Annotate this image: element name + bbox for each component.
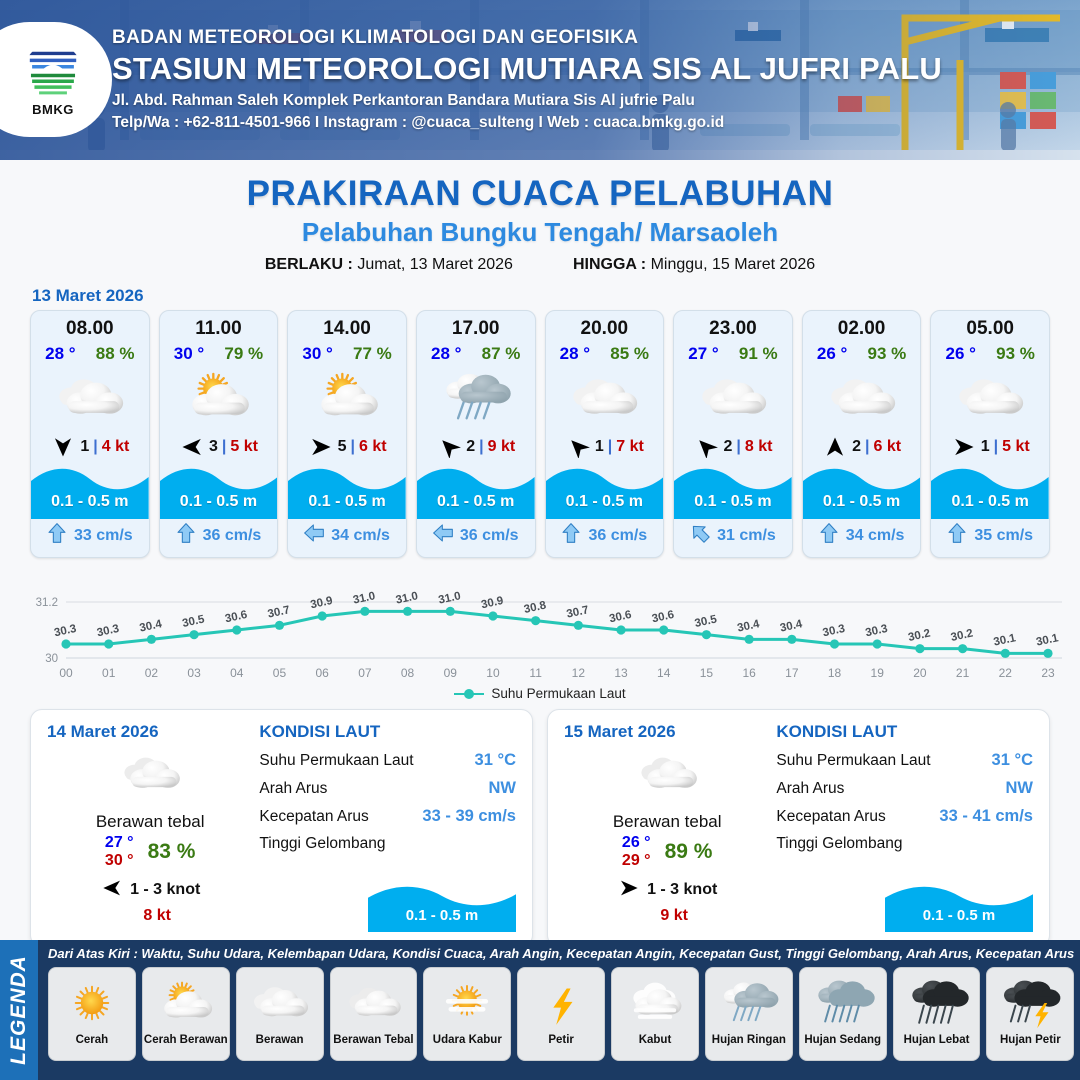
legend-item: Hujan Sedang xyxy=(799,967,887,1061)
hourly-card: 20.0028 °85 %1|7 kt0.1 - 0.5 m36 cm/s xyxy=(545,310,665,558)
weather-berawan-tebal-icon xyxy=(47,746,253,802)
weather-petir-icon xyxy=(528,972,594,1034)
page-title: PRAKIRAAN CUACA PELABUHAN xyxy=(0,174,1080,214)
card-wind: 1|4 kt xyxy=(31,435,149,459)
legend-side-bar: LEGENDA xyxy=(0,940,38,1080)
daily-date: 15 Maret 2026 xyxy=(564,722,770,742)
legend-item: Kabut xyxy=(611,967,699,1061)
card-current-speed: 36 cm/s xyxy=(460,527,519,545)
wind-direction-arrow-icon xyxy=(436,436,462,458)
card-wind-speed: 9 kt xyxy=(488,438,516,456)
svg-text:18: 18 xyxy=(828,666,842,680)
svg-text:30.9: 30.9 xyxy=(480,595,504,611)
sea-row-label: Suhu Permukaan Laut xyxy=(776,752,930,770)
svg-text:11: 11 xyxy=(529,666,542,680)
card-wind: 2|6 kt xyxy=(803,435,921,459)
svg-text:03: 03 xyxy=(187,666,201,680)
card-wind-speed: 5 kt xyxy=(1002,438,1030,456)
card-wind: 1|7 kt xyxy=(546,435,664,459)
daily-left: 14 Maret 2026Berawan tebal27 °30 °83 %1 … xyxy=(47,722,253,934)
current-direction-arrow-icon xyxy=(690,522,710,549)
hourly-card: 14.0030 °77 %5|6 kt0.1 - 0.5 m34 cm/s xyxy=(287,310,407,558)
legend-item-label: Hujan Ringan xyxy=(712,1034,786,1046)
svg-text:08: 08 xyxy=(401,666,415,680)
daily-temps: 27 °30 °83 % xyxy=(47,834,253,870)
wind-direction-arrow-icon xyxy=(308,436,334,458)
legend-item-label: Berawan Tebal xyxy=(333,1034,413,1046)
legend-body: Dari Atas Kiri : Waktu, Suhu Udara, Kele… xyxy=(38,940,1080,1080)
card-separator: | xyxy=(994,438,998,456)
card-wind-speed: 6 kt xyxy=(873,438,901,456)
weather-berawan-icon xyxy=(674,367,792,429)
card-wave-height: 0.1 - 0.5 m xyxy=(31,493,149,511)
daily-condition: Berawan tebal xyxy=(564,812,770,832)
daily-left: 15 Maret 2026Berawan tebal26 °29 °89 %1 … xyxy=(564,722,770,934)
page-subtitle: Pelabuhan Bungku Tengah/ Marsaoleh xyxy=(0,217,1080,248)
legend-item-label: Hujan Lebat xyxy=(904,1034,970,1046)
card-current-speed: 36 cm/s xyxy=(203,527,262,545)
legend-item-list: CerahCerah BerawanBerawanBerawan TebalUd… xyxy=(48,967,1074,1061)
svg-text:22: 22 xyxy=(999,666,1013,680)
sea-row-label: Kecepatan Arus xyxy=(776,808,885,826)
sea-condition-row: Arah ArusNW xyxy=(259,779,516,798)
wind-direction-arrow-icon xyxy=(617,878,641,903)
hourly-card: 23.0027 °91 %2|8 kt0.1 - 0.5 m31 cm/s xyxy=(673,310,793,558)
card-wave-height: 0.1 - 0.5 m xyxy=(546,493,664,511)
chart-legend-label: Suhu Permukaan Laut xyxy=(491,686,625,701)
wind-direction-arrow-icon xyxy=(693,436,719,458)
card-wind: 5|6 kt xyxy=(288,435,406,459)
card-time: 11.00 xyxy=(160,318,278,340)
sea-row-label: Suhu Permukaan Laut xyxy=(259,752,413,770)
svg-text:19: 19 xyxy=(871,666,885,680)
card-current-speed: 36 cm/s xyxy=(588,527,647,545)
daily-gust: 9 kt xyxy=(578,907,770,925)
card-wave-height: 0.1 - 0.5 m xyxy=(931,493,1049,511)
sst-chart: 31.23030.30030.30130.40230.50330.60430.7… xyxy=(18,572,1062,684)
weather-hujan-petir-icon xyxy=(997,972,1063,1034)
sea-row-value: 33 - 41 cm/s xyxy=(939,807,1033,826)
card-values: 30 °79 % xyxy=(160,344,278,364)
valid-from-label: BERLAKU : xyxy=(265,256,353,273)
svg-text:30.5: 30.5 xyxy=(694,613,719,630)
card-current: 31 cm/s xyxy=(674,522,792,549)
svg-text:21: 21 xyxy=(956,666,970,680)
card-time: 05.00 xyxy=(931,318,1049,340)
daily-date: 14 Maret 2026 xyxy=(47,722,253,742)
card-values: 27 °91 % xyxy=(674,344,792,364)
daily-right: KONDISI LAUTSuhu Permukaan Laut31 °CArah… xyxy=(770,722,1033,934)
card-humidity: 79 % xyxy=(224,344,263,364)
current-direction-arrow-icon xyxy=(433,522,453,549)
weather-kabut-icon xyxy=(622,972,688,1034)
sea-row-value-group: NW xyxy=(1003,779,1033,798)
hourly-card: 17.0028 °87 %2|9 kt0.1 - 0.5 m36 cm/s xyxy=(416,310,536,558)
weather-hujan-ringan-icon xyxy=(417,367,535,429)
svg-text:30.6: 30.6 xyxy=(608,609,632,625)
daily-humidity: 83 % xyxy=(148,840,196,864)
legend-item: Hujan Petir xyxy=(986,967,1074,1061)
valid-to-label: HINGGA : xyxy=(573,256,646,273)
svg-text:06: 06 xyxy=(315,666,329,680)
weather-berawan-icon xyxy=(31,367,149,429)
validity-dates: BERLAKU : Jumat, 13 Maret 2026 HINGGA : … xyxy=(0,256,1080,274)
daily-wind-range: 1 - 3 knot xyxy=(647,881,717,899)
current-direction-arrow-icon xyxy=(947,522,967,549)
daily-condition: Berawan tebal xyxy=(47,812,253,832)
card-wave-height: 0.1 - 0.5 m xyxy=(288,493,406,511)
legend-item-label: Cerah Berawan xyxy=(144,1034,228,1046)
svg-text:31.2: 31.2 xyxy=(36,597,58,609)
sea-condition-row: Tinggi Gelombang xyxy=(776,835,1033,853)
legend-strip: LEGENDA Dari Atas Kiri : Waktu, Suhu Uda… xyxy=(0,940,1080,1080)
daily-temp-max: 30 ° xyxy=(105,852,134,870)
card-temperature: 27 ° xyxy=(688,344,718,364)
card-values: 30 °77 % xyxy=(288,344,406,364)
card-current-speed: 33 cm/s xyxy=(74,527,133,545)
current-direction-arrow-icon xyxy=(304,522,324,549)
sea-row-label: Kecepatan Arus xyxy=(259,808,368,826)
sea-condition-row: Arah ArusNW xyxy=(776,779,1033,798)
svg-text:09: 09 xyxy=(444,666,458,680)
card-humidity: 93 % xyxy=(996,344,1035,364)
legend-item: Berawan Tebal xyxy=(330,967,418,1061)
svg-text:30.6: 30.6 xyxy=(224,609,248,625)
wind-direction-arrow-icon xyxy=(100,878,124,903)
card-values: 28 °85 % xyxy=(546,344,664,364)
card-wind-direction: 2 xyxy=(466,438,475,456)
valid-to-value: Minggu, 15 Maret 2026 xyxy=(651,256,816,273)
svg-text:30.7: 30.7 xyxy=(566,604,590,620)
legend-side-title: LEGENDA xyxy=(7,955,31,1065)
card-wind-direction: 1 xyxy=(595,438,604,456)
weather-berawan-icon xyxy=(546,367,664,429)
card-wave-height: 0.1 - 0.5 m xyxy=(160,493,278,511)
card-separator: | xyxy=(479,438,483,456)
daily-wind-range: 1 - 3 knot xyxy=(130,881,200,899)
weather-berawan-icon xyxy=(803,367,921,429)
sea-row-value: 33 - 39 cm/s xyxy=(422,807,516,826)
current-direction-arrow-icon xyxy=(819,522,839,549)
sea-row-value-group: 33 - 41 cm/s xyxy=(939,807,1033,826)
weather-hujan-ringan-icon xyxy=(716,972,782,1034)
legend-item: Berawan xyxy=(236,967,324,1061)
valid-from: BERLAKU : Jumat, 13 Maret 2026 xyxy=(265,256,513,274)
valid-to: HINGGA : Minggu, 15 Maret 2026 xyxy=(573,256,815,274)
weather-berawan-tebal-icon xyxy=(564,746,770,802)
weather-hujan-sedang-icon xyxy=(810,972,876,1034)
chart-legend-marker-icon xyxy=(454,689,484,699)
hourly-day-label: 13 Maret 2026 xyxy=(32,286,1080,306)
weather-udara-kabur-icon xyxy=(434,972,500,1034)
daily-temp-range: 27 °30 ° xyxy=(105,834,134,870)
svg-text:30.2: 30.2 xyxy=(907,628,931,644)
card-temperature: 26 ° xyxy=(945,344,975,364)
card-time: 23.00 xyxy=(674,318,792,340)
daily-temp-max: 29 ° xyxy=(622,852,651,870)
card-wind-speed: 7 kt xyxy=(616,438,644,456)
legend-item-label: Udara Kabur xyxy=(433,1034,502,1046)
card-wind-speed: 8 kt xyxy=(745,438,773,456)
card-separator: | xyxy=(865,438,869,456)
daily-humidity: 89 % xyxy=(665,840,713,864)
card-temperature: 26 ° xyxy=(817,344,847,364)
weather-berawan-tebal-icon xyxy=(340,972,406,1034)
svg-text:31.0: 31.0 xyxy=(395,590,419,606)
wind-direction-arrow-icon xyxy=(822,436,848,458)
legend-item-label: Hujan Sedang xyxy=(804,1034,881,1046)
card-current-speed: 31 cm/s xyxy=(717,527,776,545)
chart-legend: Suhu Permukaan Laut xyxy=(0,686,1080,701)
legend-item-label: Berawan xyxy=(256,1034,304,1046)
legend-item: Cerah Berawan xyxy=(142,967,230,1061)
card-wind-direction: 2 xyxy=(723,438,732,456)
card-separator: | xyxy=(93,438,97,456)
svg-text:20: 20 xyxy=(913,666,927,680)
sea-row-value: 31 °C xyxy=(992,751,1033,770)
svg-text:30.6: 30.6 xyxy=(651,609,675,625)
weather-cerah-berawan-icon xyxy=(288,367,406,429)
card-wind-speed: 4 kt xyxy=(102,438,130,456)
daily-gust: 8 kt xyxy=(61,907,253,925)
svg-text:30.9: 30.9 xyxy=(309,595,333,611)
header-text-block: BADAN METEOROLOGI KLIMATOLOGI DAN GEOFIS… xyxy=(112,27,942,132)
card-current: 34 cm/s xyxy=(803,522,921,549)
sea-row-label: Tinggi Gelombang xyxy=(776,835,902,853)
card-temperature: 28 ° xyxy=(45,344,75,364)
card-values: 28 °88 % xyxy=(31,344,149,364)
valid-from-value: Jumat, 13 Maret 2026 xyxy=(357,256,513,273)
wind-direction-arrow-icon xyxy=(50,436,76,458)
wind-direction-arrow-icon xyxy=(565,436,591,458)
svg-text:30.4: 30.4 xyxy=(139,618,164,635)
svg-text:17: 17 xyxy=(785,666,799,680)
legend-item-label: Petir xyxy=(548,1034,574,1046)
card-humidity: 88 % xyxy=(96,344,135,364)
svg-text:13: 13 xyxy=(614,666,628,680)
card-values: 26 °93 % xyxy=(931,344,1049,364)
bmkg-logo-icon xyxy=(24,43,82,101)
card-wind: 2|9 kt xyxy=(417,435,535,459)
sea-row-value: NW xyxy=(488,779,516,798)
legend-item: Hujan Lebat xyxy=(893,967,981,1061)
card-wind-direction: 1 xyxy=(981,438,990,456)
sea-row-value: 31 °C xyxy=(475,751,516,770)
svg-text:30.1: 30.1 xyxy=(1035,632,1060,649)
svg-text:04: 04 xyxy=(230,666,244,680)
svg-text:30.4: 30.4 xyxy=(736,618,761,635)
svg-text:30.3: 30.3 xyxy=(53,623,77,639)
weather-berawan-icon xyxy=(247,972,313,1034)
station-address: Jl. Abd. Rahman Saleh Komplek Perkantora… xyxy=(112,92,942,110)
svg-text:10: 10 xyxy=(486,666,500,680)
sea-condition-row: Kecepatan Arus33 - 39 cm/s xyxy=(259,807,516,826)
legend-item: Cerah xyxy=(48,967,136,1061)
svg-text:16: 16 xyxy=(742,666,756,680)
card-wave-height: 0.1 - 0.5 m xyxy=(417,493,535,511)
bmkg-logo-text: BMKG xyxy=(32,102,74,117)
daily-wave-height: 0.1 - 0.5 m xyxy=(368,907,516,924)
hourly-card: 11.0030 °79 %3|5 kt0.1 - 0.5 m36 cm/s xyxy=(159,310,279,558)
daily-right: KONDISI LAUTSuhu Permukaan Laut31 °CArah… xyxy=(253,722,516,934)
svg-text:30.3: 30.3 xyxy=(96,623,120,639)
card-values: 26 °93 % xyxy=(803,344,921,364)
card-humidity: 87 % xyxy=(482,344,521,364)
legend-item: Petir xyxy=(517,967,605,1061)
card-time: 02.00 xyxy=(803,318,921,340)
svg-text:02: 02 xyxy=(145,666,159,680)
svg-text:30.3: 30.3 xyxy=(822,623,846,639)
hourly-card: 02.0026 °93 %2|6 kt0.1 - 0.5 m34 cm/s xyxy=(802,310,922,558)
card-temperature: 30 ° xyxy=(174,344,204,364)
legend-item-label: Cerah xyxy=(76,1034,109,1046)
card-humidity: 85 % xyxy=(610,344,649,364)
card-separator: | xyxy=(350,438,354,456)
card-temperature: 28 ° xyxy=(560,344,590,364)
card-wave-height: 0.1 - 0.5 m xyxy=(674,493,792,511)
card-current-speed: 34 cm/s xyxy=(846,527,905,545)
sea-row-label: Arah Arus xyxy=(259,780,327,798)
weather-hujan-lebat-icon xyxy=(904,972,970,1034)
sea-condition-title: KONDISI LAUT xyxy=(776,722,1033,742)
daily-temp-min: 26 ° xyxy=(622,834,651,852)
legend-item-label: Hujan Petir xyxy=(1000,1034,1061,1046)
card-wind-direction: 1 xyxy=(80,438,89,456)
sea-condition-row: Tinggi Gelombang xyxy=(259,835,516,853)
card-wind: 1|5 kt xyxy=(931,435,1049,459)
sea-row-value-group: NW xyxy=(486,779,516,798)
card-wind-direction: 2 xyxy=(852,438,861,456)
svg-text:31.0: 31.0 xyxy=(352,590,376,606)
daily-wave-height: 0.1 - 0.5 m xyxy=(885,907,1033,924)
card-wave-height: 0.1 - 0.5 m xyxy=(803,493,921,511)
weather-cerah-icon xyxy=(59,972,125,1034)
svg-text:30.4: 30.4 xyxy=(779,618,804,635)
card-humidity: 91 % xyxy=(739,344,778,364)
svg-text:30.3: 30.3 xyxy=(864,623,888,639)
sea-condition-row: Suhu Permukaan Laut31 °C xyxy=(259,751,516,770)
station-contact: Telp/Wa : +62-811-4501-966 I Instagram :… xyxy=(112,114,942,132)
daily-temp-range: 26 °29 ° xyxy=(622,834,651,870)
card-time: 17.00 xyxy=(417,318,535,340)
sea-row-value-group: 31 °C xyxy=(475,751,516,770)
card-wind-direction: 5 xyxy=(338,438,347,456)
card-current: 33 cm/s xyxy=(31,522,149,549)
card-current: 36 cm/s xyxy=(417,522,535,549)
legend-item-label: Kabut xyxy=(639,1034,672,1046)
card-separator: | xyxy=(736,438,740,456)
svg-text:00: 00 xyxy=(59,666,73,680)
card-current-speed: 35 cm/s xyxy=(974,527,1033,545)
svg-text:31.0: 31.0 xyxy=(437,590,461,606)
daily-wind: 1 - 3 knot xyxy=(47,878,253,903)
card-wind-direction: 3 xyxy=(209,438,218,456)
card-time: 20.00 xyxy=(546,318,664,340)
sea-row-label: Arah Arus xyxy=(776,780,844,798)
card-temperature: 30 ° xyxy=(302,344,332,364)
svg-text:05: 05 xyxy=(273,666,287,680)
page-header: BMKG BADAN METEOROLOGI KLIMATOLOGI DAN G… xyxy=(0,0,1080,160)
svg-text:15: 15 xyxy=(700,666,714,680)
card-current-speed: 34 cm/s xyxy=(331,527,390,545)
daily-wind: 1 - 3 knot xyxy=(564,878,770,903)
daily-forecast-card: 14 Maret 2026Berawan tebal27 °30 °83 %1 … xyxy=(30,709,533,947)
daily-temps: 26 °29 °89 % xyxy=(564,834,770,870)
card-current: 36 cm/s xyxy=(160,522,278,549)
card-humidity: 93 % xyxy=(868,344,907,364)
svg-text:01: 01 xyxy=(102,666,116,680)
legend-note: Dari Atas Kiri : Waktu, Suhu Udara, Kele… xyxy=(48,946,1074,961)
card-wind-speed: 6 kt xyxy=(359,438,387,456)
daily-temp-min: 27 ° xyxy=(105,834,134,852)
current-direction-arrow-icon xyxy=(561,522,581,549)
weather-berawan-icon xyxy=(931,367,1049,429)
card-wind: 3|5 kt xyxy=(160,435,278,459)
sea-condition-row: Kecepatan Arus33 - 41 cm/s xyxy=(776,807,1033,826)
agency-name: BADAN METEOROLOGI KLIMATOLOGI DAN GEOFIS… xyxy=(112,27,942,49)
card-temperature: 28 ° xyxy=(431,344,461,364)
card-current: 34 cm/s xyxy=(288,522,406,549)
current-direction-arrow-icon xyxy=(47,522,67,549)
svg-text:30.5: 30.5 xyxy=(181,613,206,630)
svg-text:14: 14 xyxy=(657,666,671,680)
legend-item: Udara Kabur xyxy=(423,967,511,1061)
sea-row-value-group: 33 - 39 cm/s xyxy=(422,807,516,826)
weather-cerah-berawan-icon xyxy=(160,367,278,429)
svg-text:30.2: 30.2 xyxy=(950,628,974,644)
hourly-card: 05.0026 °93 %1|5 kt0.1 - 0.5 m35 cm/s xyxy=(930,310,1050,558)
card-humidity: 77 % xyxy=(353,344,392,364)
legend-item: Hujan Ringan xyxy=(705,967,793,1061)
card-current: 36 cm/s xyxy=(546,522,664,549)
bmkg-logo: BMKG xyxy=(0,22,112,137)
sea-condition-row: Suhu Permukaan Laut31 °C xyxy=(776,751,1033,770)
hourly-card: 08.0028 °88 %1|4 kt0.1 - 0.5 m33 cm/s xyxy=(30,310,150,558)
station-name: STASIUN METEOROLOGI MUTIARA SIS AL JUFRI… xyxy=(112,51,942,87)
current-direction-arrow-icon xyxy=(176,522,196,549)
svg-text:07: 07 xyxy=(358,666,372,680)
sea-row-label: Tinggi Gelombang xyxy=(259,835,385,853)
card-separator: | xyxy=(222,438,226,456)
card-wind-speed: 5 kt xyxy=(230,438,258,456)
card-separator: | xyxy=(608,438,612,456)
wind-direction-arrow-icon xyxy=(951,436,977,458)
svg-text:30.1: 30.1 xyxy=(992,632,1017,649)
sea-row-value-group: 31 °C xyxy=(992,751,1033,770)
sea-row-value: NW xyxy=(1005,779,1033,798)
card-values: 28 °87 % xyxy=(417,344,535,364)
svg-text:23: 23 xyxy=(1041,666,1055,680)
card-current: 35 cm/s xyxy=(931,522,1049,549)
sea-condition-title: KONDISI LAUT xyxy=(259,722,516,742)
card-time: 14.00 xyxy=(288,318,406,340)
card-wind: 2|8 kt xyxy=(674,435,792,459)
hourly-forecast-row: 08.0028 °88 %1|4 kt0.1 - 0.5 m33 cm/s11.… xyxy=(0,310,1080,558)
weather-cerah-berawan-icon xyxy=(153,972,219,1034)
card-time: 08.00 xyxy=(31,318,149,340)
svg-text:30: 30 xyxy=(45,653,58,665)
svg-text:30.7: 30.7 xyxy=(267,604,291,620)
daily-forecast-row: 14 Maret 2026Berawan tebal27 °30 °83 %1 … xyxy=(0,709,1080,947)
sst-chart-svg: 31.23030.30030.30130.40230.50330.60430.7… xyxy=(18,572,1062,684)
svg-text:12: 12 xyxy=(572,666,586,680)
daily-forecast-card: 15 Maret 2026Berawan tebal26 °29 °89 %1 … xyxy=(547,709,1050,947)
wind-direction-arrow-icon xyxy=(179,436,205,458)
